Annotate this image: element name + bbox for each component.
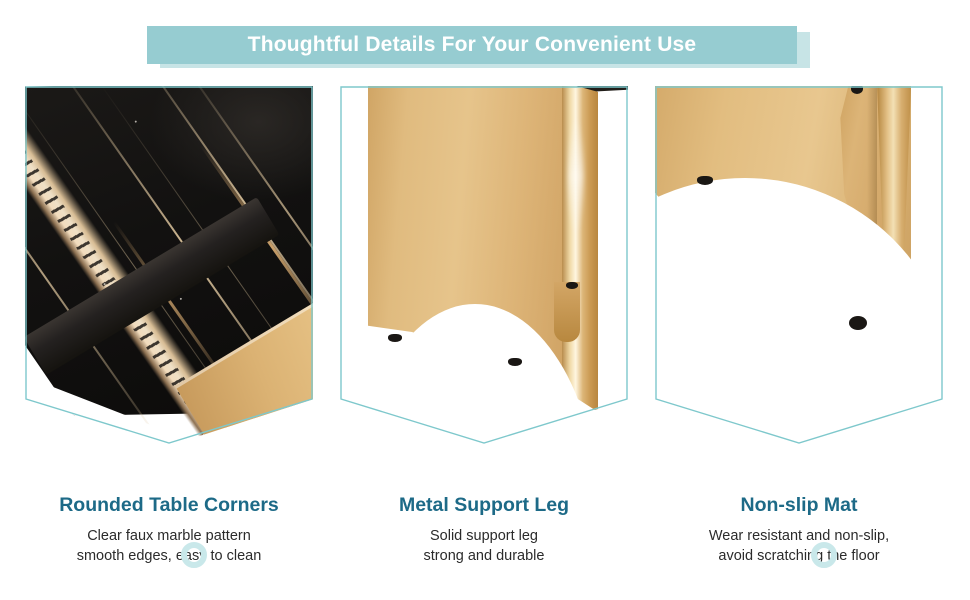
non-slip-foot <box>508 358 522 366</box>
feature-panel-non-slip-mat[interactable] <box>655 86 943 486</box>
marble-speck <box>104 283 106 285</box>
caption-rounded-table-corners: Rounded Table Corners Clear faux marble … <box>19 494 319 566</box>
non-slip-foot <box>566 282 578 289</box>
feature-description-line-2: strong and durable <box>334 546 634 566</box>
feature-panels <box>0 86 970 486</box>
feature-image-rounded-table-corners <box>25 86 313 446</box>
marble-speck <box>180 298 182 300</box>
non-slip-foot <box>697 176 713 185</box>
feature-description-line-1: Clear faux marble pattern <box>19 526 319 546</box>
non-slip-foot <box>849 316 867 330</box>
header-banner: Thoughtful Details For Your Convenient U… <box>0 0 970 90</box>
marble-speck <box>135 121 137 123</box>
leg-notch <box>554 282 580 342</box>
feature-image-metal-support-leg <box>340 86 628 446</box>
feature-image-non-slip-mat <box>655 86 943 446</box>
feature-title: Metal Support Leg <box>334 494 634 517</box>
connector-ring <box>811 542 837 568</box>
caption-non-slip-mat: Non-slip Mat Wear resistant and non-slip… <box>649 494 949 566</box>
banner-title: Thoughtful Details For Your Convenient U… <box>248 33 697 57</box>
caption-metal-support-leg: Metal Support Leg Solid support leg stro… <box>334 494 634 566</box>
leg-gloss-highlight <box>568 116 584 236</box>
feature-panel-metal-support-leg[interactable] <box>340 86 628 486</box>
feature-panel-rounded-table-corners[interactable] <box>25 86 313 486</box>
banner-bar: Thoughtful Details For Your Convenient U… <box>147 26 797 64</box>
feature-description-line-2: avoid scratching the floor <box>649 546 949 566</box>
feature-title: Non-slip Mat <box>649 494 949 517</box>
non-slip-foot <box>388 334 402 342</box>
feature-description-line-2: smooth edges, easy to clean <box>19 546 319 566</box>
feature-description-line-1: Wear resistant and non-slip, <box>649 526 949 546</box>
feature-title: Rounded Table Corners <box>19 494 319 517</box>
feature-description-line-1: Solid support leg <box>334 526 634 546</box>
connector-ring <box>181 542 207 568</box>
